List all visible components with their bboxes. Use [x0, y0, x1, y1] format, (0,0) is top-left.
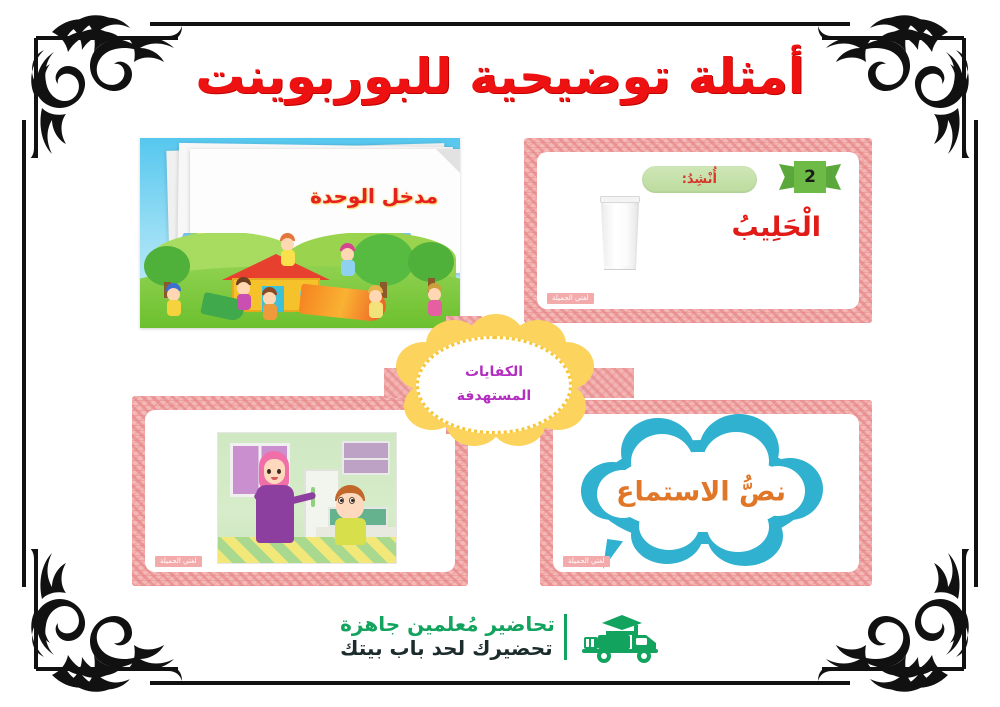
- footer-tagline-primary: تحاضير مُعلمين جاهزة: [340, 613, 555, 637]
- delivery-truck-icon: [576, 609, 660, 665]
- frame-line-left: [22, 120, 26, 587]
- center-flower-badge[interactable]: الكفايات المستهدفة: [390, 324, 598, 450]
- footer-divider: [564, 614, 567, 660]
- child-figure-7: [427, 283, 442, 316]
- child-figure-2: [236, 277, 251, 310]
- child-figure-6: [368, 285, 383, 318]
- child-figure-4: [280, 233, 295, 266]
- watermark-listening: لغتي الجميلة: [563, 556, 610, 567]
- watermark-kitchen: لغتي الجميلة: [155, 556, 202, 567]
- anshid-pill-label: أُنْشِدُ:: [642, 166, 757, 193]
- panel-unit-intro[interactable]: مدخل الوحدة: [140, 138, 460, 328]
- poster-canvas: أمثلة توضيحية للبوربوينت مدخل الوحدة: [0, 0, 1000, 707]
- kitchen-illustration: [217, 432, 397, 564]
- playground-illustration: [140, 233, 460, 328]
- child-figure-5: [340, 243, 355, 276]
- panel-anshid-milk[interactable]: أُنْشِدُ: 2 الْحَلِيبُ لغتي الجميلة: [524, 138, 872, 323]
- kitchen-cabinet: [342, 441, 390, 475]
- footer-brand-text: تحاضير مُعلمين جاهزة تحضيرك لحد باب بيتك: [340, 613, 555, 660]
- competencies-line-2: المستهدفة: [457, 385, 531, 409]
- unit-intro-heading: مدخل الوحدة: [310, 184, 438, 208]
- milk-word-label: الْحَلِيبُ: [732, 212, 821, 243]
- tree-icon-2: [352, 234, 414, 298]
- panels-stage: مدخل الوحدة: [132, 138, 872, 586]
- footer-brand-logo: تحاضير مُعلمين جاهزة تحضيرك لحد باب بيتك: [0, 609, 1000, 665]
- panel-listening-sheet: نصُّ الاستماع لغتي الجميلة: [553, 414, 859, 572]
- speech-cloud-icon: نصُّ الاستماع: [595, 440, 807, 544]
- watermark-anshid: لغتي الجميلة: [547, 293, 594, 304]
- center-flower-core: الكفايات المستهدفة: [416, 336, 572, 434]
- number-ribbon-value: 2: [794, 161, 826, 193]
- footer-tagline-secondary: تحضيرك لحد باب بيتك: [340, 637, 553, 661]
- frame-line-right: [974, 120, 978, 587]
- boy-figure: [330, 485, 372, 545]
- competencies-line-1: الكفايات: [465, 361, 523, 385]
- listening-text-label: نصُّ الاستماع: [595, 477, 807, 508]
- page-title: أمثلة توضيحية للبوربوينت: [0, 48, 1000, 105]
- child-figure-1: [166, 283, 181, 316]
- mother-figure: [252, 451, 298, 543]
- number-ribbon-badge: 2: [779, 161, 841, 193]
- panel-anshid-sheet: أُنْشِدُ: 2 الْحَلِيبُ لغتي الجميلة: [537, 152, 859, 309]
- milk-glass-icon: [599, 196, 641, 270]
- frame-line-top: [150, 22, 850, 26]
- child-figure-3: [262, 287, 277, 320]
- frame-line-bottom: [150, 681, 850, 685]
